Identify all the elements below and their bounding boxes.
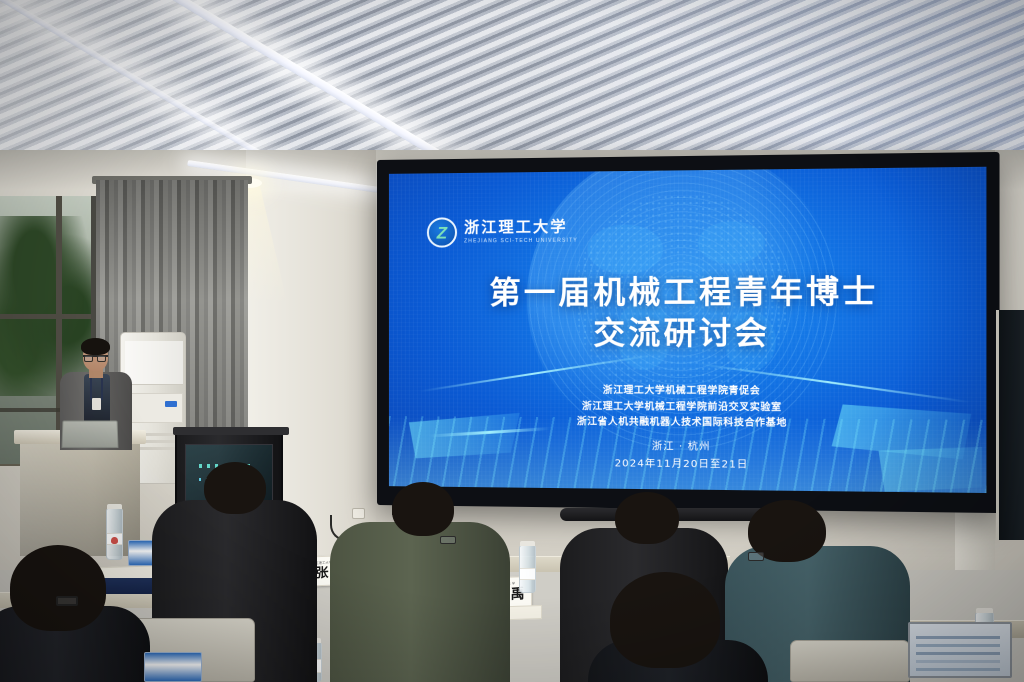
university-logo: Z 浙江理工大学 ZHEJIANG SCI-TECH UNIVERSITY xyxy=(427,216,578,247)
glasses-icon xyxy=(748,552,764,561)
laptop-screen xyxy=(908,622,1012,678)
glasses-icon xyxy=(56,596,78,606)
attendee-head xyxy=(204,462,266,514)
chair[interactable] xyxy=(790,640,910,682)
rack-top xyxy=(173,427,289,435)
slide-title: 第一届机械工程青年博士 交流研讨会 xyxy=(389,271,987,355)
window-tree xyxy=(0,216,96,396)
attendee-head xyxy=(615,492,679,544)
bottle-label-mark xyxy=(111,537,118,544)
window-frame-horizontal xyxy=(0,314,96,319)
water-bottle xyxy=(106,508,123,560)
slide-title-line2: 交流研讨会 xyxy=(389,313,987,355)
wall-power-outlet xyxy=(352,508,365,519)
attendee-head xyxy=(392,482,454,536)
slide-title-line1: 第一届机械工程青年博士 xyxy=(389,271,987,314)
attendee-laptop[interactable] xyxy=(902,622,1014,682)
slide-location-date: 浙江 · 杭州 2024年11月20日至21日 xyxy=(389,436,987,476)
tissue-box xyxy=(144,652,202,682)
screen-display-area: Z 浙江理工大学 ZHEJIANG SCI-TECH UNIVERSITY 第一… xyxy=(389,167,987,493)
attendee-head xyxy=(610,572,720,668)
attendee-olive-shirt xyxy=(330,522,510,682)
ac-grille-icon xyxy=(125,341,183,385)
bottle-label xyxy=(520,568,535,580)
attendee-head xyxy=(10,545,106,631)
bottle-cap xyxy=(976,608,993,613)
laptop-content-lines xyxy=(916,636,1000,639)
wall-display-panel xyxy=(996,310,1024,540)
ac-display-icon xyxy=(165,401,177,407)
logo-university-cn: 浙江理工大学 xyxy=(464,219,578,235)
water-bottle xyxy=(519,545,536,593)
glasses-icon xyxy=(440,536,456,544)
bottle-cap xyxy=(107,504,122,509)
presenter-hair xyxy=(81,338,110,355)
logo-mark-icon: Z xyxy=(427,217,457,247)
presenter-laptop[interactable] xyxy=(62,421,119,448)
presenter-badge xyxy=(92,398,101,410)
logo-university-en: ZHEJIANG SCI-TECH UNIVERSITY xyxy=(464,238,578,245)
logo-letter: Z xyxy=(437,224,447,241)
presenter-lanyard xyxy=(90,378,103,400)
slide-organizers: 浙江理工大学机械工程学院青促会 浙江理工大学机械工程学院前沿交叉实验室 浙江省人… xyxy=(389,382,987,433)
ac-control-panel[interactable] xyxy=(125,393,183,423)
conference-room-photo: Z 浙江理工大学 ZHEJIANG SCI-TECH UNIVERSITY 第一… xyxy=(0,0,1024,682)
presentation-screen[interactable]: Z 浙江理工大学 ZHEJIANG SCI-TECH UNIVERSITY 第一… xyxy=(377,152,1000,513)
bottle-cap xyxy=(520,541,535,546)
glasses-lens-left-icon xyxy=(84,355,93,362)
glasses-lens-right-icon xyxy=(97,355,106,362)
